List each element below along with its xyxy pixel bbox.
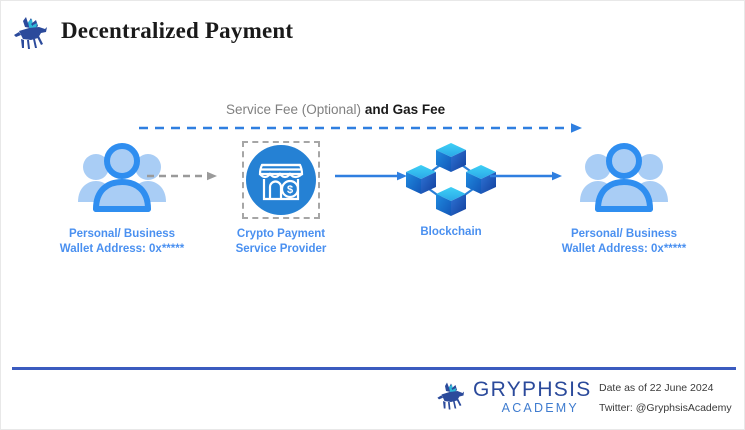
- storefront-dollar-icon: $: [240, 139, 322, 221]
- slide-header: Decentralized Payment: [1, 1, 745, 63]
- node-receiver: Personal/ Business Wallet Address: 0x***…: [531, 139, 717, 257]
- fee-label-optional: Service Fee (Optional): [226, 102, 361, 117]
- connector-sender-to-provider-icon: [147, 169, 219, 183]
- slide-canvas: Decentralized Payment Service Fee (Optio…: [0, 0, 745, 430]
- node-blockchain-caption-line1: Blockchain: [383, 225, 519, 240]
- fee-label: Service Fee (Optional) and Gas Fee: [226, 102, 445, 117]
- node-sender: Personal/ Business Wallet Address: 0x***…: [29, 139, 215, 257]
- brand-name: GRYPHSIS: [473, 379, 592, 401]
- slide-footer: GRYPHSIS ACADEMY Date as of 22 June 2024…: [1, 373, 745, 425]
- gryphsis-griffin-logo-icon: [11, 15, 53, 53]
- node-provider-caption-line2: Service Provider: [218, 242, 344, 257]
- node-sender-caption-line1: Personal/ Business: [29, 227, 215, 242]
- node-sender-caption-line2: Wallet Address: 0x*****: [29, 242, 215, 257]
- footer-divider: [12, 367, 736, 370]
- footer-twitter: Twitter: @GryphsisAcademy: [599, 398, 732, 418]
- fee-overhead-arrow-icon: [139, 121, 584, 135]
- fee-label-gas: and Gas Fee: [361, 102, 445, 117]
- gryphsis-griffin-logo-icon: [435, 381, 469, 413]
- node-receiver-caption-line1: Personal/ Business: [531, 227, 717, 242]
- node-blockchain: Blockchain: [383, 139, 519, 240]
- node-sender-caption: Personal/ Business Wallet Address: 0x***…: [29, 227, 215, 257]
- blockchain-cubes-icon: [399, 139, 503, 219]
- node-receiver-caption: Personal/ Business Wallet Address: 0x***…: [531, 227, 717, 257]
- footer-date: Date as of 22 June 2024: [599, 378, 732, 398]
- node-provider-caption-line1: Crypto Payment: [218, 227, 344, 242]
- node-blockchain-caption: Blockchain: [383, 225, 519, 240]
- node-provider: $ Crypto Payment Service Provider: [218, 139, 344, 257]
- people-group-icon: [574, 139, 674, 221]
- node-provider-caption: Crypto Payment Service Provider: [218, 227, 344, 257]
- page-title: Decentralized Payment: [61, 18, 293, 44]
- node-receiver-caption-line2: Wallet Address: 0x*****: [531, 242, 717, 257]
- footer-brand-text: GRYPHSIS ACADEMY: [473, 379, 592, 416]
- brand-subname: ACADEMY: [473, 401, 592, 416]
- svg-text:$: $: [287, 184, 293, 196]
- footer-brand-lockup: GRYPHSIS ACADEMY: [435, 377, 580, 419]
- footer-meta: Date as of 22 June 2024 Twitter: @Gryphs…: [599, 378, 732, 418]
